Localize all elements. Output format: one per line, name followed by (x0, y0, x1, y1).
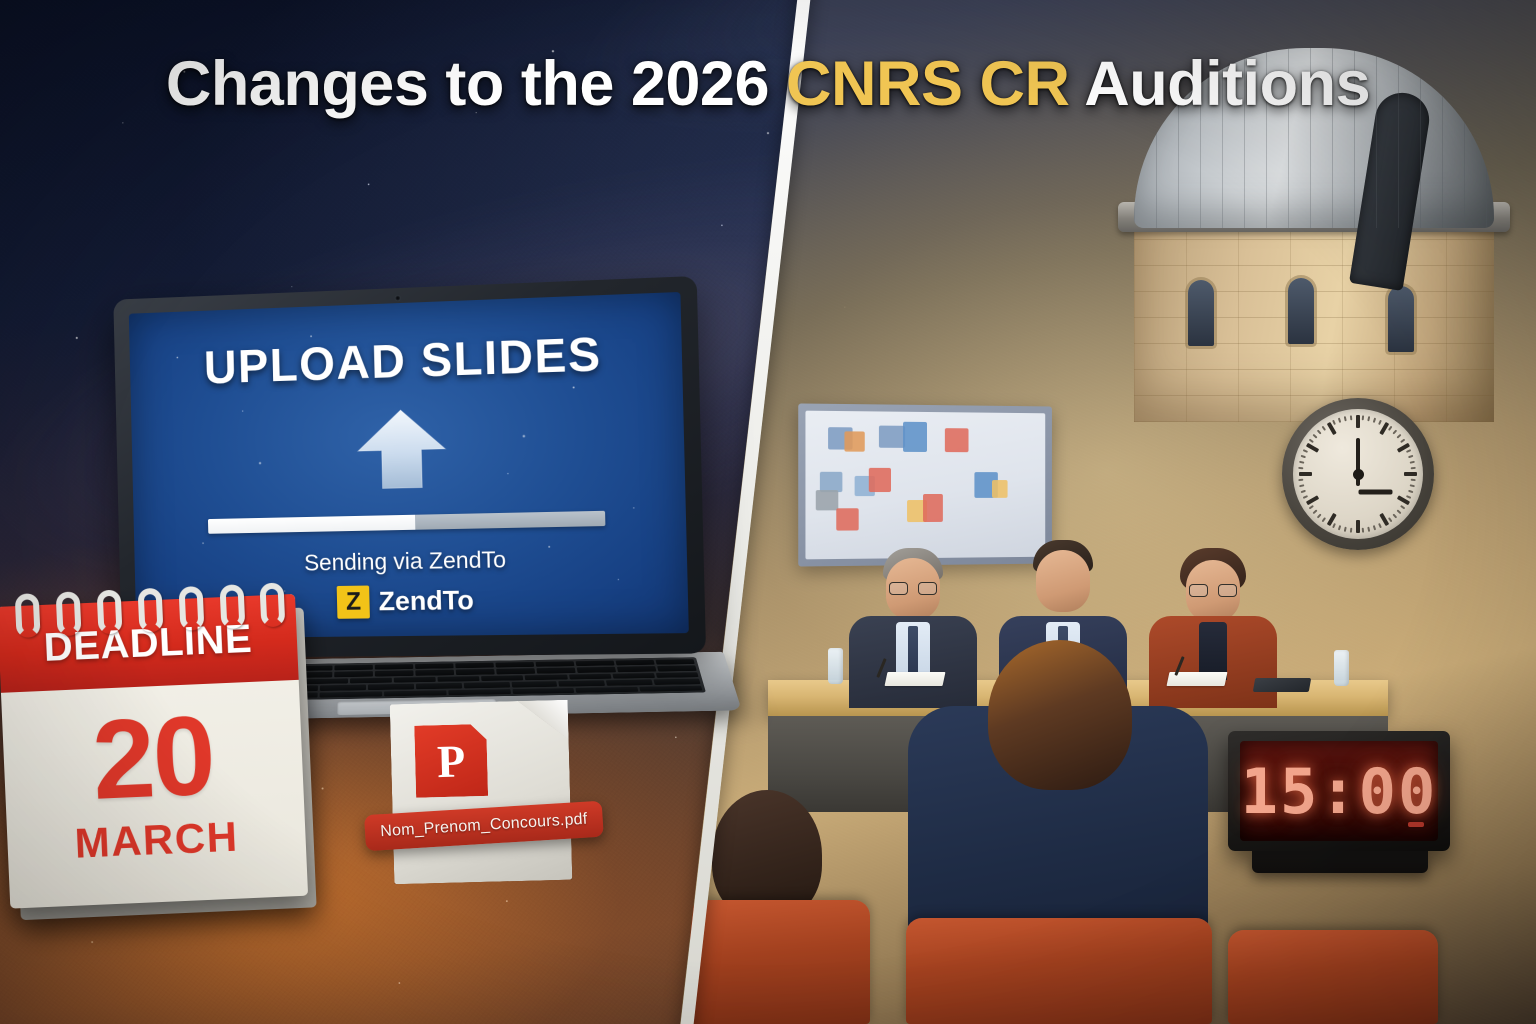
keyboard-key[interactable] (512, 687, 575, 694)
juror-torso (1149, 616, 1277, 708)
pdf-icon: P (414, 724, 488, 798)
clock-hour-tick (1356, 415, 1360, 428)
zendto-logo: Z ZendTo (337, 584, 474, 619)
clock-minute-tick (1317, 429, 1322, 434)
calendar-front-page: DEADLINE 20 MARCH (0, 594, 308, 909)
keyboard-key[interactable] (455, 663, 494, 669)
keyboard-key[interactable] (415, 663, 454, 669)
clock-minute-tick (1362, 415, 1365, 420)
slide-block (879, 426, 905, 448)
slide-block (869, 468, 891, 492)
keyboard-key[interactable] (657, 665, 697, 671)
page-title: Changes to the 2026 CNRS CR Auditions (0, 48, 1536, 120)
auditorium-seat (1228, 930, 1438, 1024)
clock-minute-tick (1338, 525, 1341, 530)
slide-block (836, 508, 858, 530)
calendar-ring (97, 590, 123, 635)
upload-heading: UPLOAD SLIDES (203, 326, 602, 395)
clock-minute-tick (1408, 455, 1413, 458)
clock-minute-tick (1406, 449, 1411, 453)
clock-minute-tick (1309, 439, 1314, 444)
slide-block (816, 490, 839, 510)
clock-minute-tick (1392, 429, 1397, 434)
clock-minute-tick (1373, 525, 1376, 530)
keyboard-key[interactable] (615, 660, 654, 666)
keyboard-key[interactable] (394, 677, 436, 683)
poster-canvas: 15:00 UPLOAD SLIDES (0, 0, 1536, 1024)
clock-minute-tick (1344, 527, 1347, 532)
clock-minute-tick (1367, 527, 1370, 532)
clock-minute-tick (1410, 461, 1415, 464)
slide-block (844, 431, 864, 451)
clock-minute-tick (1322, 426, 1327, 431)
keyboard-key[interactable] (617, 666, 657, 672)
upload-progress-fill (208, 515, 416, 534)
keyboard-key[interactable] (559, 680, 606, 686)
clock-minute-tick (1312, 509, 1317, 514)
clock-minute-tick (1378, 420, 1382, 425)
clock-minute-tick (1309, 505, 1314, 510)
jury-tablet (1253, 678, 1311, 692)
wall-clock (1282, 398, 1434, 550)
clock-minute-tick (1367, 416, 1370, 421)
keyboard-key[interactable] (416, 683, 462, 689)
clock-minute-tick (1303, 495, 1308, 499)
juror-torso (849, 616, 977, 708)
title-part-1: Changes to the 2026 (166, 49, 786, 119)
timer-value: 15:00 (1241, 755, 1438, 828)
keyboard-key[interactable] (577, 667, 616, 673)
clock-minute-tick (1406, 495, 1411, 499)
calendar-ring (15, 593, 41, 638)
water-bottle (1334, 650, 1349, 686)
clock-hour-tick (1299, 472, 1312, 476)
clock-minute-tick (1299, 484, 1304, 487)
observatory-window (1388, 286, 1414, 352)
slide-block (992, 480, 1008, 498)
title-highlight: CNRS CR (786, 49, 1070, 119)
keyboard-key[interactable] (612, 673, 655, 679)
keyboard-key[interactable] (569, 673, 612, 679)
clock-minute-tick (1411, 467, 1416, 470)
keyboard-key[interactable] (654, 678, 701, 684)
auditorium-seat (690, 900, 870, 1024)
clock-minute-tick (1301, 455, 1306, 458)
auditorium-seat (906, 918, 1212, 1024)
slide-block (945, 428, 969, 452)
keyboard-key[interactable] (535, 661, 574, 667)
upload-status-text: Sending via ZendTo (304, 546, 506, 576)
keyboard-key[interactable] (464, 682, 510, 688)
upload-progress-bar (208, 511, 606, 534)
juror-tie (908, 626, 918, 676)
keyboard-key[interactable] (655, 659, 694, 665)
clock-minute-tick (1362, 528, 1365, 533)
calendar-ring (56, 591, 82, 636)
keyboard-key[interactable] (525, 674, 568, 680)
clock-minute-tick (1338, 418, 1341, 423)
calendar-ring (219, 584, 245, 629)
clock-minute-tick (1373, 418, 1376, 423)
clock-minute-tick (1400, 505, 1405, 510)
keyboard-key[interactable] (511, 681, 557, 687)
observatory-window (1188, 280, 1214, 346)
clock-minute-tick (1322, 517, 1327, 522)
webcam-icon (395, 295, 401, 301)
slide-block (923, 494, 943, 522)
keyboard-key[interactable] (481, 675, 523, 681)
keyboard-key[interactable] (368, 684, 414, 690)
keyboard-key[interactable] (639, 685, 702, 692)
timer-indicator-led (1408, 822, 1424, 827)
keyboard-key[interactable] (375, 670, 414, 676)
clock-hour-tick (1404, 472, 1417, 476)
clock-minute-tick (1408, 490, 1413, 493)
keyboard-key[interactable] (656, 672, 699, 678)
keyboard-key[interactable] (334, 671, 373, 677)
clock-face (1293, 409, 1423, 539)
calendar-ring (178, 586, 204, 631)
clock-minute-tick (1299, 461, 1304, 464)
calendar-ring (138, 588, 164, 633)
keyboard-key[interactable] (306, 678, 348, 684)
clock-minute-tick (1396, 434, 1401, 439)
clock-minute-tick (1301, 490, 1306, 493)
clock-minute-tick (1303, 449, 1308, 453)
keyboard-key[interactable] (437, 676, 479, 682)
keyboard-key[interactable] (320, 684, 366, 690)
clock-minute-tick (1378, 523, 1382, 528)
keyboard-key[interactable] (375, 664, 413, 670)
zendto-wordmark: ZendTo (378, 585, 474, 617)
keyboard-key[interactable] (536, 668, 575, 674)
clock-minute-tick (1298, 479, 1303, 482)
clock-hour-hand (1358, 490, 1392, 495)
glasses-icon (889, 582, 937, 595)
clock-minute-tick (1410, 484, 1415, 487)
clock-minute-tick (1396, 509, 1401, 514)
clock-minute-tick (1298, 467, 1303, 470)
keyboard-key[interactable] (496, 668, 535, 674)
keyboard-key[interactable] (576, 660, 615, 666)
clock-hour-tick (1356, 520, 1360, 533)
keyboard-key[interactable] (415, 670, 454, 676)
clock-minute-tick (1392, 513, 1397, 518)
clock-minute-tick (1388, 426, 1393, 431)
clock-minute-tick (1350, 528, 1353, 533)
clock-minute-tick (1350, 415, 1353, 420)
countdown-timer: 15:00 (1228, 731, 1450, 851)
presentation-slide (805, 411, 1045, 560)
deadline-month: MARCH (7, 810, 307, 871)
clock-minute-tick (1332, 420, 1336, 425)
candidate-head (988, 640, 1132, 790)
pdf-file-card[interactable]: P Nom_Prenom_Concours.pdf (390, 700, 573, 885)
clock-center-pin (1353, 469, 1364, 480)
clock-minute-tick (1400, 439, 1405, 444)
clock-minute-tick (1332, 523, 1336, 528)
up-arrow-icon (353, 407, 450, 496)
keyboard-key[interactable] (350, 677, 392, 683)
slide-block (820, 472, 843, 492)
calendar-ring (260, 582, 286, 627)
juror-head (1036, 550, 1090, 612)
water-bottle (828, 648, 843, 684)
keyboard-key[interactable] (334, 665, 372, 671)
clock-minute-tick (1344, 416, 1347, 421)
deadline-calendar: DEADLINE 20 MARCH (0, 593, 321, 924)
keyboard-key[interactable] (384, 690, 446, 697)
zendto-badge-icon: Z (337, 586, 370, 619)
deadline-day: 20 (2, 696, 305, 821)
clock-minute-tick (1411, 479, 1416, 482)
jury-paper (885, 672, 946, 686)
keyboard-key[interactable] (576, 686, 639, 693)
keyboard-key[interactable] (320, 691, 382, 698)
timer-display-screen: 15:00 (1240, 741, 1438, 841)
timer-stand (1252, 851, 1428, 873)
observatory-window (1288, 278, 1314, 344)
glasses-icon (1189, 584, 1237, 597)
clock-minute-tick (1317, 513, 1322, 518)
keyboard-key[interactable] (606, 679, 653, 685)
clock-minute-tick (1388, 517, 1393, 522)
slide-block (903, 422, 927, 452)
keyboard-key[interactable] (448, 689, 511, 696)
title-part-2: Auditions (1070, 49, 1371, 119)
keyboard-key[interactable] (456, 669, 495, 675)
clock-minute-tick (1312, 434, 1317, 439)
keyboard-key[interactable] (495, 662, 534, 668)
